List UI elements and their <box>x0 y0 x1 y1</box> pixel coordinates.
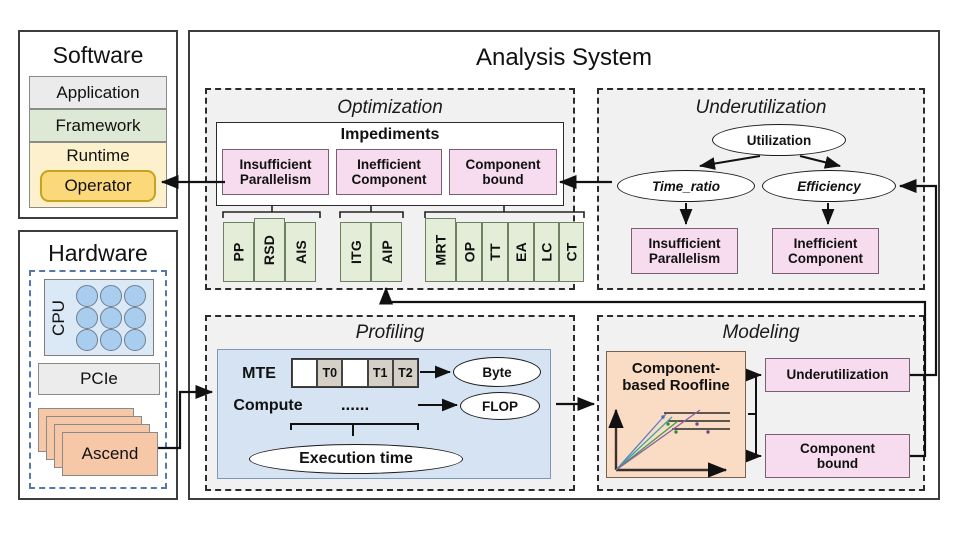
underutil-leaf-inefficient-component[interactable]: Inefficient Component <box>772 228 879 274</box>
output-line1: Underutilization <box>787 367 889 382</box>
output-line1: Component <box>800 441 875 456</box>
timeline-cell-2[interactable] <box>342 359 367 387</box>
mte-timeline[interactable]: T0 T1 T2 <box>291 358 419 388</box>
tag-itg[interactable]: ITG <box>340 222 371 282</box>
output-line2: bound <box>817 456 858 471</box>
roofline-model-label: Component- based Roofline <box>606 355 746 399</box>
tag-tt[interactable]: TT <box>482 222 508 282</box>
cpu-core <box>124 285 146 307</box>
impediment-line1: Insufficient <box>239 157 311 172</box>
software-layer-framework-label: Framework <box>55 116 140 136</box>
profiling-execution-time[interactable]: Execution time <box>249 444 463 474</box>
impediment-line2: Component <box>352 172 427 187</box>
tag-label: CT <box>564 242 580 261</box>
impediments-title: Impediments <box>216 124 564 146</box>
tag-lc[interactable]: LC <box>534 222 559 282</box>
profiling-title: Profiling <box>205 320 575 346</box>
node-label: FLOP <box>482 399 518 414</box>
tag-label: MRT <box>433 235 449 266</box>
impediment-line2: Parallelism <box>240 172 311 187</box>
optimization-title: Optimization <box>205 95 575 121</box>
impediment-line2: bound <box>482 172 523 187</box>
impediment-insufficient-parallelism[interactable]: Insufficient Parallelism <box>222 149 329 195</box>
timeline-cell-t0[interactable]: T0 <box>317 359 342 387</box>
leaf-line2: Component <box>788 251 863 266</box>
cpu-core-grid <box>76 285 148 351</box>
timeline-cell-t2[interactable]: T2 <box>393 359 418 387</box>
node-label: Execution time <box>299 450 413 468</box>
profiling-row-label-mte: MTE <box>228 360 290 388</box>
tag-op[interactable]: OP <box>456 222 482 282</box>
tag-mrt[interactable]: MRT <box>425 218 456 282</box>
tag-rsd[interactable]: RSD <box>254 218 285 282</box>
profiling-output-byte[interactable]: Byte <box>453 357 541 387</box>
node-time-ratio[interactable]: Time_ratio <box>617 170 755 202</box>
tag-ea[interactable]: EA <box>508 222 534 282</box>
tag-label: LC <box>539 242 555 261</box>
underutil-leaf-insufficient-parallelism[interactable]: Insufficient Parallelism <box>631 228 738 274</box>
timeline-cell-t1[interactable]: T1 <box>368 359 393 387</box>
software-layer-operator[interactable]: Operator <box>40 170 156 202</box>
software-layer-runtime-label: Runtime <box>66 146 129 166</box>
timeline-cell-0[interactable] <box>292 359 317 387</box>
modeling-title: Modeling <box>597 320 925 346</box>
underutilization-title: Underutilization <box>597 95 925 121</box>
node-utilization[interactable]: Utilization <box>712 124 846 156</box>
software-layer-framework[interactable]: Framework <box>29 109 167 142</box>
ascend-card[interactable]: Ascend <box>62 432 158 476</box>
node-label: Byte <box>482 365 511 380</box>
tag-label: AIS <box>292 240 308 264</box>
leaf-line1: Inefficient <box>794 236 858 251</box>
leaf-line2: Parallelism <box>649 251 720 266</box>
tag-label: OP <box>461 242 477 263</box>
roofline-line1: Component- <box>632 360 720 377</box>
impediment-inefficient-component[interactable]: Inefficient Component <box>336 149 442 195</box>
impediment-component-bound[interactable]: Component bound <box>449 149 557 195</box>
software-title: Software <box>18 40 178 70</box>
tag-aip[interactable]: AIP <box>371 222 402 282</box>
software-layer-application-label: Application <box>56 83 139 103</box>
cpu-core <box>124 329 146 351</box>
roofline-line2: based Roofline <box>622 377 730 394</box>
profiling-row-label-compute: Compute <box>222 392 314 420</box>
cpu-core <box>100 329 122 351</box>
tag-pp[interactable]: PP <box>223 222 254 282</box>
tag-ais[interactable]: AIS <box>285 222 316 282</box>
cpu-core <box>76 329 98 351</box>
cpu-label: CPU <box>49 300 69 336</box>
software-layer-operator-label: Operator <box>64 176 131 196</box>
tag-label: TT <box>487 243 503 261</box>
node-efficiency[interactable]: Efficiency <box>762 170 896 202</box>
leaf-line1: Insufficient <box>648 236 720 251</box>
cpu-core <box>100 285 122 307</box>
modeling-output-underutilization[interactable]: Underutilization <box>765 358 910 392</box>
modeling-output-component-bound[interactable]: Component bound <box>765 434 910 478</box>
node-label: Utilization <box>747 133 812 148</box>
pcie-block[interactable]: PCIe <box>38 363 160 395</box>
hardware-title: Hardware <box>18 238 178 268</box>
node-label: Time_ratio <box>652 179 720 194</box>
cpu-core <box>100 307 122 329</box>
tag-label: PP <box>230 242 246 261</box>
tag-label: RSD <box>262 235 278 265</box>
cpu-core <box>76 307 98 329</box>
impediment-line1: Component <box>466 157 541 172</box>
software-layer-application[interactable]: Application <box>29 76 167 109</box>
tag-label: ITG <box>348 240 364 264</box>
tag-label: AIP <box>378 240 394 264</box>
cpu-core <box>124 307 146 329</box>
profiling-output-flop[interactable]: FLOP <box>460 392 540 420</box>
analysis-system-title: Analysis System <box>188 42 940 74</box>
compute-ellipsis: ...... <box>318 392 392 418</box>
impediment-line1: Inefficient <box>357 157 421 172</box>
tag-ct[interactable]: CT <box>559 222 584 282</box>
node-label: Efficiency <box>797 179 861 194</box>
ascend-label: Ascend <box>82 444 139 464</box>
pcie-label: PCIe <box>80 369 118 389</box>
tag-label: EA <box>513 242 529 262</box>
cpu-core <box>76 285 98 307</box>
